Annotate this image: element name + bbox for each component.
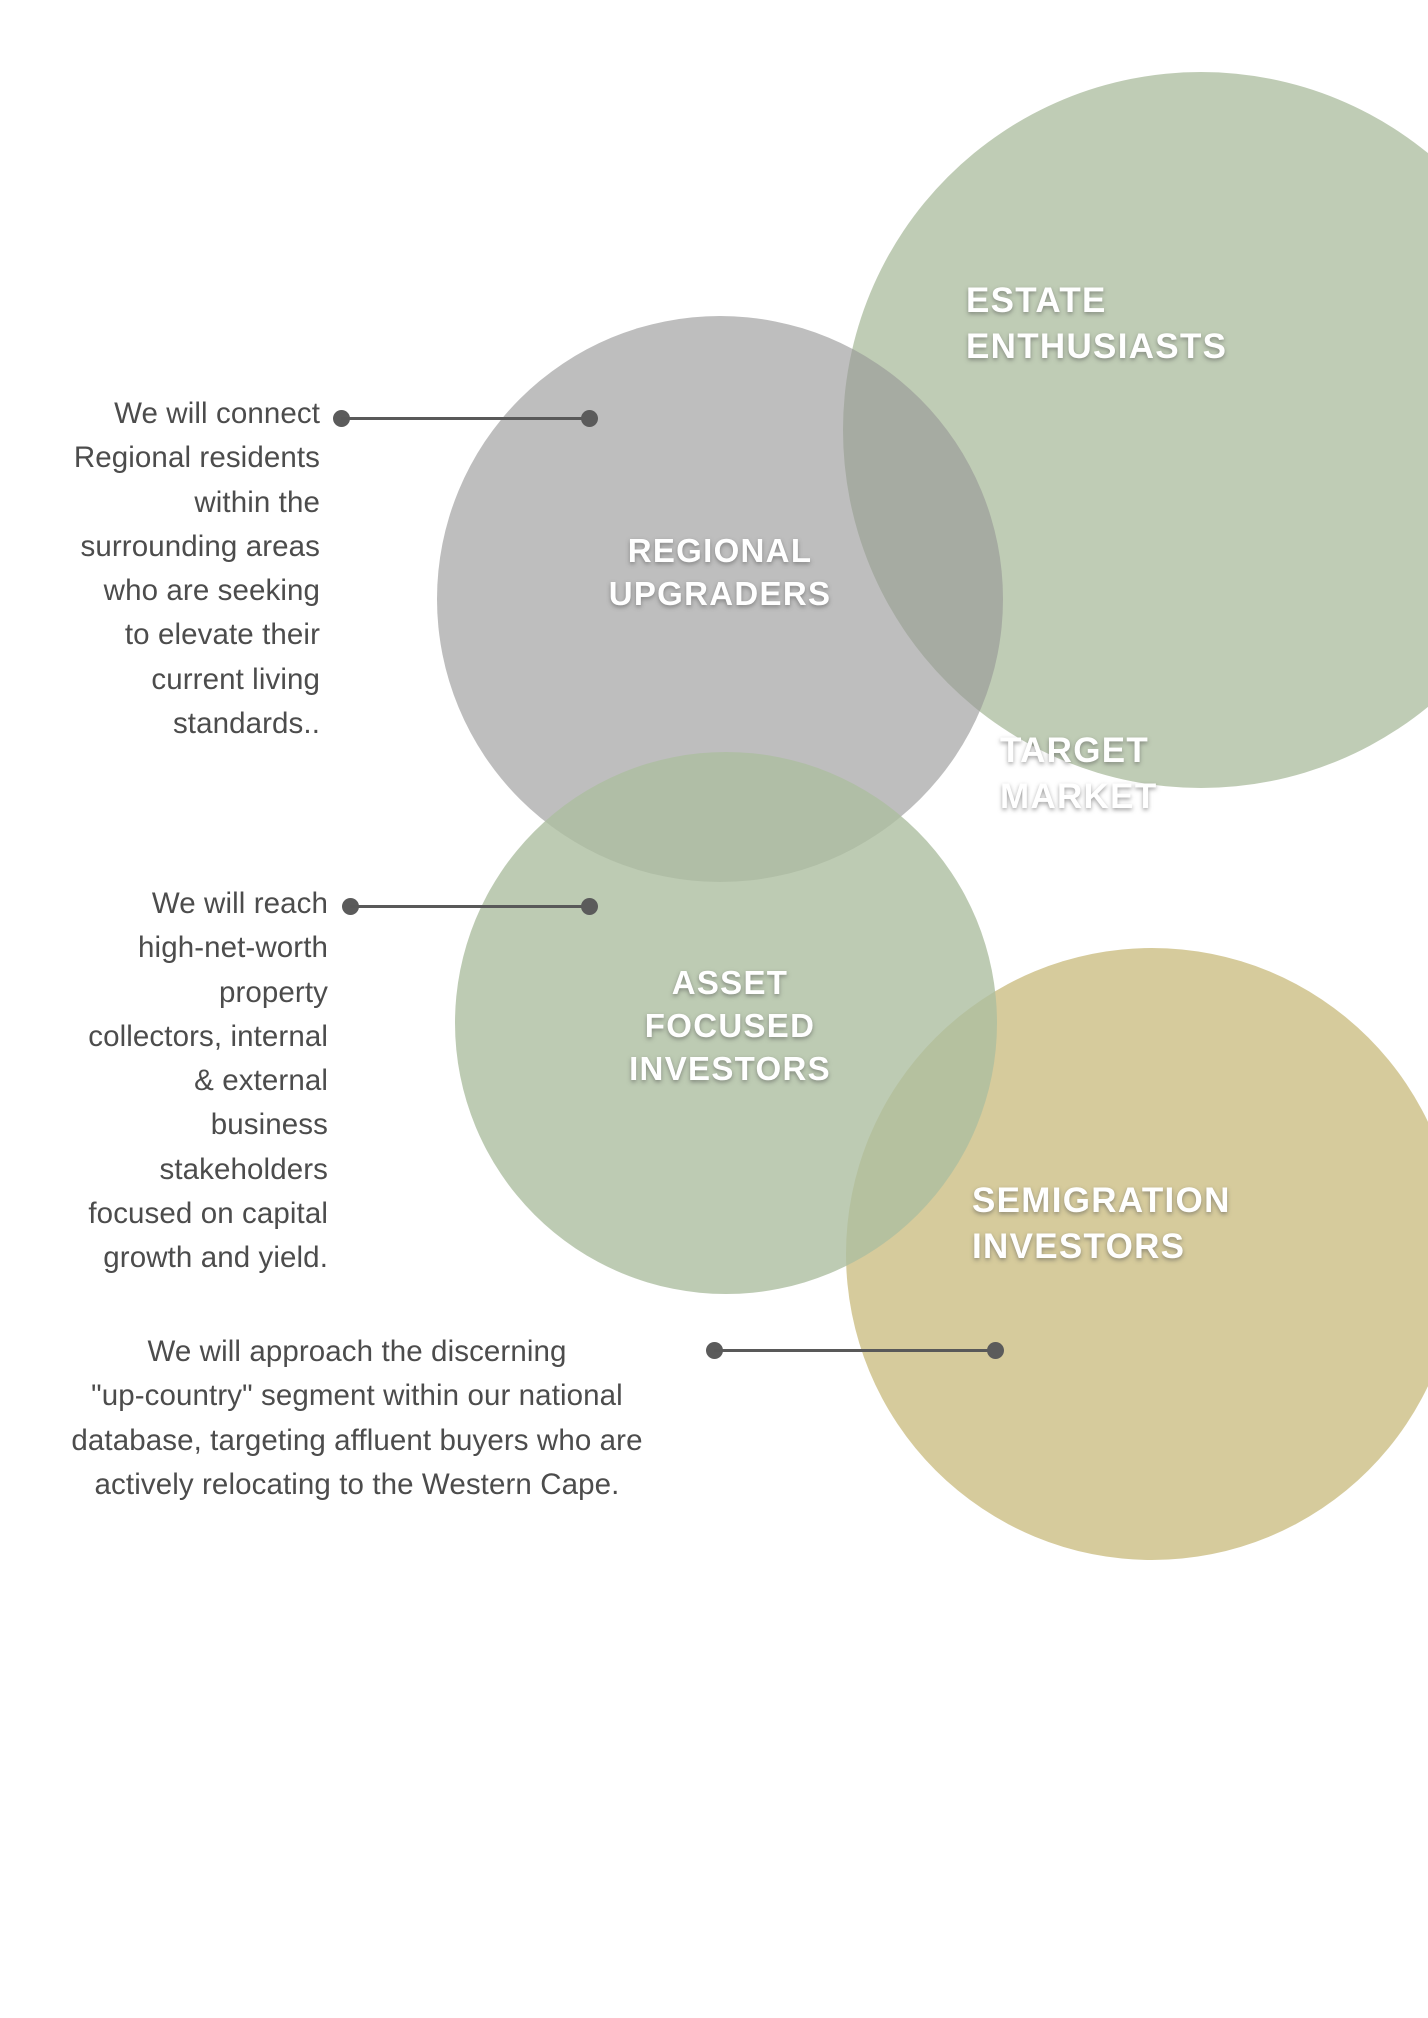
slide-canvas: ESTATE ENTHUSIASTS REGIONAL UPGRADERS TA… — [0, 0, 1428, 2018]
callout-asset-focused-investors: We will reach high-net-worth property co… — [0, 882, 328, 1280]
connector-line-semigration-investors — [706, 1340, 1004, 1360]
connector-dot-end — [581, 410, 598, 427]
connector-stroke — [341, 417, 590, 420]
connector-stroke — [350, 905, 590, 908]
callout-regional-upgraders-text: We will connect Regional residents withi… — [0, 392, 320, 746]
callout-regional-upgraders: We will connect Regional residents withi… — [0, 392, 320, 746]
connector-line-asset-focused-investors — [342, 896, 598, 916]
connector-line-regional-upgraders — [333, 408, 598, 428]
connector-dot-end — [581, 898, 598, 915]
venn-circle-asset-focused-investors[interactable] — [455, 752, 997, 1294]
connector-dot-end — [987, 1342, 1004, 1359]
callout-asset-focused-investors-text: We will reach high-net-worth property co… — [0, 882, 328, 1280]
connector-stroke — [714, 1349, 996, 1352]
callout-semigration-investors: We will approach the discerning "up-coun… — [20, 1330, 694, 1507]
callout-semigration-investors-text: We will approach the discerning "up-coun… — [20, 1330, 694, 1507]
